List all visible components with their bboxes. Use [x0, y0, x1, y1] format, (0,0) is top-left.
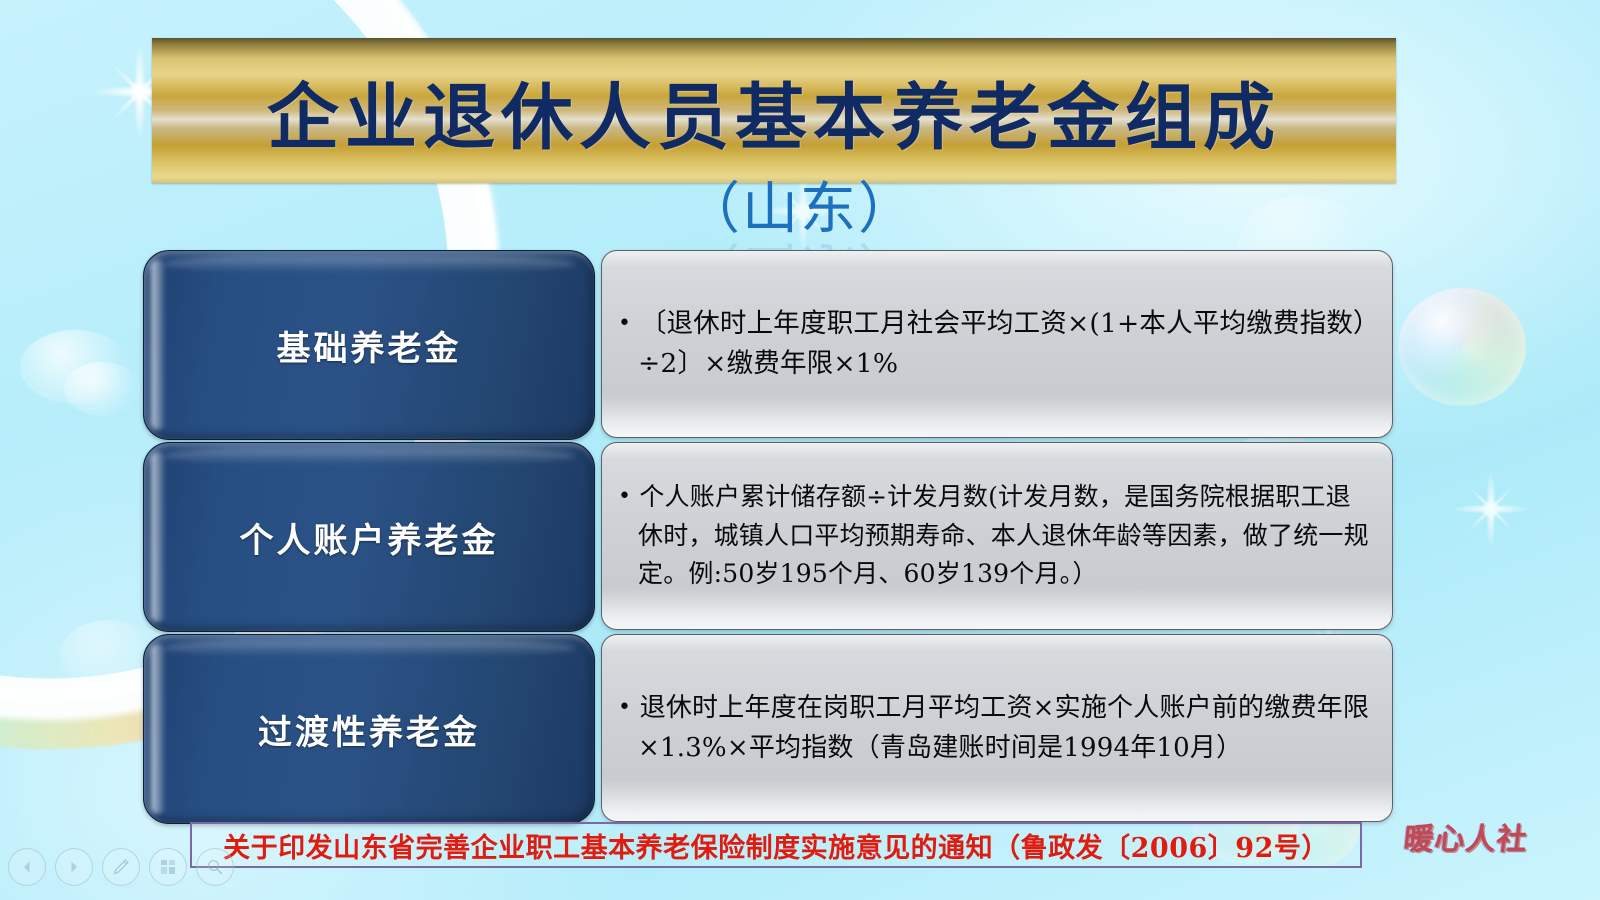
pension-formula-box: • 个人账户累计储存额÷计发月数(计发月数，是国务院根据职工退休时，城镇人口平均…: [601, 442, 1393, 630]
formula-body: 〔退休时上年度职工月社会平均工资×(1+本人平均缴费指数）÷2〕×缴费年限×1%: [638, 308, 1366, 379]
grid-icon: [158, 857, 178, 877]
pension-formula-box: • 〔退休时上年度职工月社会平均工资×(1+本人平均缴费指数）÷2〕×缴费年限×…: [601, 250, 1393, 438]
pension-formula-box: • 退休时上年度在岗职工月平均工资×实施个人账户前的缴费年限×1.3%×平均指数…: [601, 634, 1393, 822]
pension-category-label: 个人账户养老金: [240, 513, 499, 562]
subtitle-container: （山东） （山东）: [0, 182, 1600, 238]
pension-category-label: 基础养老金: [277, 321, 462, 370]
formula-body: 退休时上年度在岗职工月平均工资×实施个人账户前的缴费年限×1.3%×平均指数（青…: [638, 693, 1369, 763]
page-subtitle: （山东） （山东）: [684, 182, 916, 238]
page-title: 企业退休人员基本养老金组成: [152, 58, 1396, 163]
next-slide-button[interactable]: [55, 848, 93, 886]
presenter-toolbar: [8, 848, 234, 886]
pen-icon: [111, 857, 131, 877]
watermark-logo: 暖心人社: [1383, 812, 1548, 860]
zoom-button[interactable]: [196, 848, 234, 886]
chevron-left-icon: [19, 859, 35, 875]
magnifier-icon: [205, 857, 225, 877]
formula-body: 个人账户累计储存额÷计发月数(计发月数，是国务院根据职工退休时，城镇人口平均预期…: [638, 482, 1369, 589]
bullet-marker: •: [618, 484, 631, 509]
bullet-marker: •: [618, 311, 631, 336]
pension-category-box[interactable]: 个人账户养老金: [143, 442, 595, 632]
pension-category-box[interactable]: 过渡性养老金: [143, 634, 595, 824]
pension-row: 过渡性养老金 • 退休时上年度在岗职工月平均工资×实施个人账户前的缴费年限×1.…: [0, 634, 1600, 822]
policy-reference-text: 关于印发山东省完善企业职工基本养老保险制度实施意见的通知（鲁政发〔2006〕92…: [223, 826, 1329, 865]
pension-row: 基础养老金 • 〔退休时上年度职工月社会平均工资×(1+本人平均缴费指数）÷2〕…: [0, 250, 1600, 438]
previous-slide-button[interactable]: [8, 848, 46, 886]
pension-category-label: 过渡性养老金: [258, 705, 480, 754]
pension-row: 个人账户养老金 • 个人账户累计储存额÷计发月数(计发月数，是国务院根据职工退休…: [0, 442, 1600, 630]
subtitle-text: （山东）: [684, 177, 916, 242]
pen-tool-button[interactable]: [102, 848, 140, 886]
pension-formula-text: • 退休时上年度在岗职工月平均工资×实施个人账户前的缴费年限×1.3%×平均指数…: [616, 688, 1374, 769]
bullet-marker: •: [618, 695, 631, 720]
pension-formula-text: • 个人账户累计储存额÷计发月数(计发月数，是国务院根据职工退休时，城镇人口平均…: [616, 478, 1374, 594]
pension-formula-text: • 〔退休时上年度职工月社会平均工资×(1+本人平均缴费指数）÷2〕×缴费年限×…: [616, 304, 1374, 385]
content-rows: 基础养老金 • 〔退休时上年度职工月社会平均工资×(1+本人平均缴费指数）÷2〕…: [0, 250, 1600, 826]
chevron-right-icon: [66, 859, 82, 875]
policy-reference-box: 关于印发山东省完善企业职工基本养老保险制度实施意见的通知（鲁政发〔2006〕92…: [190, 822, 1362, 868]
title-banner: 企业退休人员基本养老金组成: [152, 38, 1396, 183]
pension-category-box[interactable]: 基础养老金: [143, 250, 595, 440]
all-slides-button[interactable]: [149, 848, 187, 886]
